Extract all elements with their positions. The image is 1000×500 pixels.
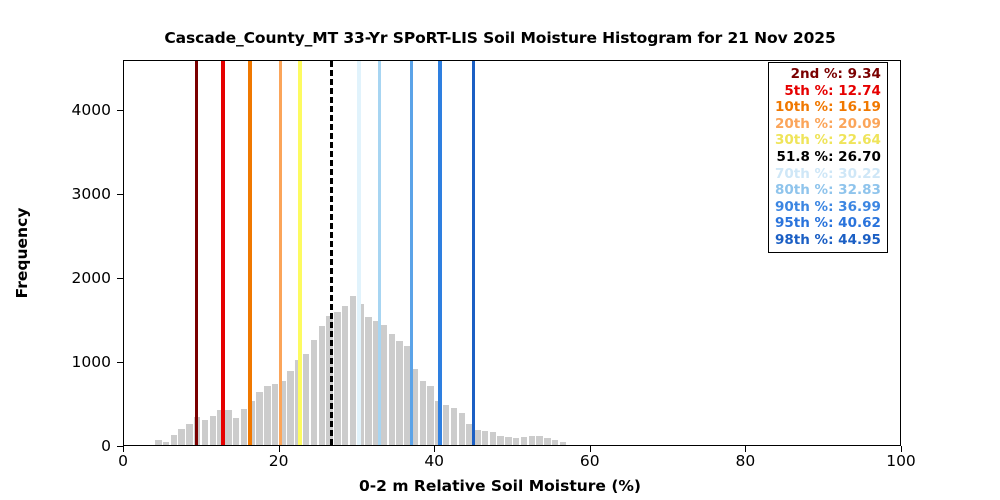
percentile-line-10th xyxy=(248,61,251,445)
x-axis-label: 0-2 m Relative Soil Moisture (%) xyxy=(0,477,1000,495)
percentile-line-70th xyxy=(357,61,360,445)
y-tick-label: 4000 xyxy=(0,101,111,119)
y-tick-label: 2000 xyxy=(0,269,111,287)
legend-entry: 70th %: 30.22 xyxy=(775,166,881,183)
x-tick-label: 40 xyxy=(424,452,444,470)
page-title: Cascade_County_MT 33-Yr SPoRT-LIS Soil M… xyxy=(0,29,1000,47)
percentile-line-90th xyxy=(410,61,413,445)
percentile-legend: 2nd %: 9.345th %: 12.7410th %: 16.1920th… xyxy=(768,62,888,253)
legend-entry: 80th %: 32.83 xyxy=(775,182,881,199)
x-tick-mark xyxy=(434,446,435,452)
y-tick-label: 0 xyxy=(0,437,111,455)
x-tick-mark xyxy=(745,446,746,452)
legend-entry: 10th %: 16.19 xyxy=(775,99,881,116)
x-tick-label: 20 xyxy=(269,452,289,470)
y-tick-label: 3000 xyxy=(0,185,111,203)
percentile-line-20th xyxy=(279,61,282,445)
percentile-line-2nd xyxy=(195,61,198,445)
legend-entry: 20th %: 20.09 xyxy=(775,116,881,133)
legend-entry: 90th %: 36.99 xyxy=(775,199,881,216)
x-tick-label: 80 xyxy=(736,452,756,470)
x-tick-mark xyxy=(590,446,591,452)
x-tick-mark xyxy=(123,446,124,452)
percentile-line-98th xyxy=(472,61,475,445)
x-tick-label: 60 xyxy=(580,452,600,470)
legend-entry: 5th %: 12.74 xyxy=(775,83,881,100)
percentile-line-95th xyxy=(438,61,441,445)
legend-entry: 51.8 %: 26.70 xyxy=(775,149,881,166)
percentile-line-51-8 xyxy=(330,61,333,445)
legend-entry: 2nd %: 9.34 xyxy=(775,66,881,83)
y-tick-label: 1000 xyxy=(0,353,111,371)
x-tick-mark xyxy=(901,446,902,452)
percentile-line-80th xyxy=(378,61,381,445)
x-tick-label: 100 xyxy=(886,452,916,470)
x-tick-mark xyxy=(279,446,280,452)
legend-entry: 30th %: 22.64 xyxy=(775,132,881,149)
legend-entry: 98th %: 44.95 xyxy=(775,232,881,249)
percentile-line-5th xyxy=(221,61,224,445)
percentile-line-30th xyxy=(298,61,301,445)
x-tick-label: 0 xyxy=(118,452,128,470)
histogram-figure: Cascade_County_MT 33-Yr SPoRT-LIS Soil M… xyxy=(0,0,1000,500)
legend-entry: 95th %: 40.62 xyxy=(775,215,881,232)
